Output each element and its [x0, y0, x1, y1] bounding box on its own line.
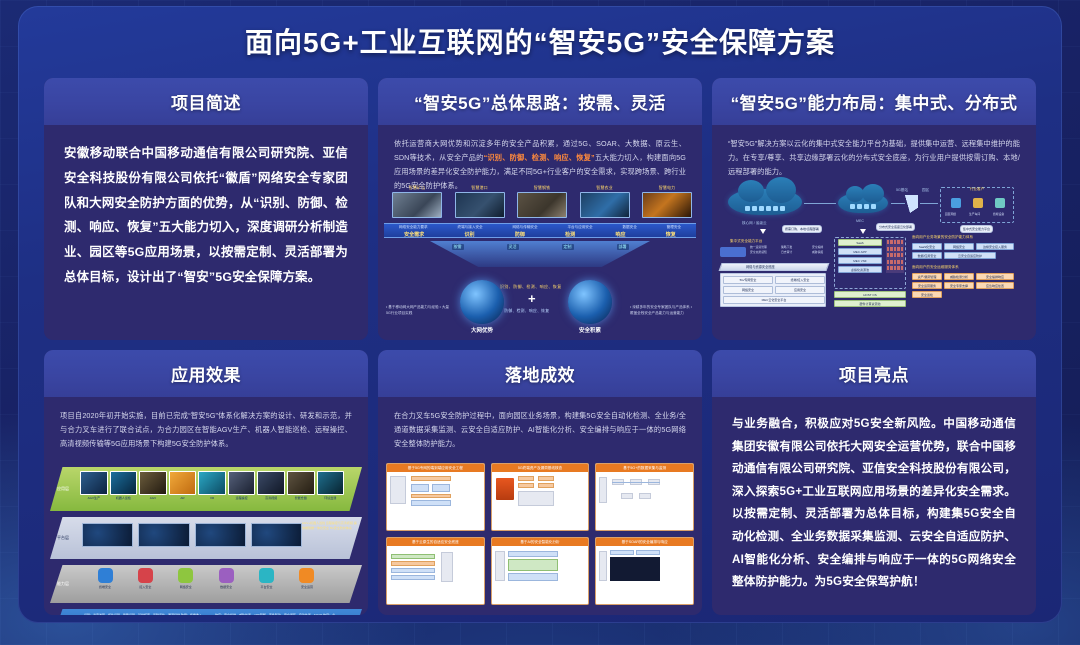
layer3-items: 终端安全 接入安全 网络安全 数据安全 平台安全 安全运营 [90, 568, 322, 589]
cloud-label-mec: MEC [856, 219, 864, 223]
center-platform-bullets: 统一运营管理 安全态势感知 策略下发 日志审计 安全编排 威胁情报 [750, 245, 840, 256]
platform-stack: 5G/专网安全 终端/接入安全 网络安全 应用安全 MEC云化安全平台 [720, 273, 826, 307]
layer1-item-thumb [169, 471, 197, 495]
scenario-thumb-image [580, 192, 630, 218]
cloud-label-core: 核心网 / 省级云 [742, 221, 767, 226]
result-card-body [387, 472, 484, 530]
capability-bar: 网络安全能力要求 终端与接入安全 网络与传输安全 平台与应用安全 数据安全 管理… [384, 223, 696, 238]
thumb-sidebar [495, 551, 505, 581]
capability-main-item: 识别 [464, 231, 474, 238]
landing-results-text: 在合力叉车5G安全防护过程中，面向园区业务场景，构建集5G安全自动化检测、全业务… [390, 407, 690, 451]
layer-tag: 应用层 [52, 486, 74, 492]
result-card-title: 基于SOAR的安全编排与响应 [596, 538, 693, 546]
panel-header-landing-results: 落地成效 [378, 350, 702, 397]
mec-stack-item: 硬件计算资源池 [834, 300, 906, 307]
right-section-title-1: 面向用户业务场景的安全防护能力体系 [912, 235, 973, 240]
panel-application-effect: 应用效果 项目自2020年初开始实施，目前已完成“智安5G”体系化解决方案的设计… [44, 350, 368, 615]
panel-project-highlights: 项目亮点 与业务融合，积极应对5G安全新风险。中国移动通信集团安徽有限公司依托大… [712, 350, 1036, 615]
layer2-screenshot [251, 523, 302, 547]
thumb-block [432, 484, 450, 492]
layer4-column-right: 响应：安全编排、威胁处置、APT阻断、事件联动、安全闭环、自动处置、SOAR 恢… [215, 613, 336, 615]
thumb-block [639, 493, 651, 499]
poster-title: 面向5G+工业互联网的“智安5G”安全保障方案 [245, 21, 835, 61]
thumb-sidebar [599, 551, 607, 581]
capability-layout-diagram: 核心网 / 省级云 MEC 5G基站 园区 行业客户 [716, 181, 1032, 338]
center-bullet: 策略下发 [781, 245, 792, 249]
link-line-core-mec [804, 203, 836, 204]
layer1-item: AGV生产 [80, 471, 108, 500]
right-ops-block: 安全专家支撑 [944, 282, 974, 289]
cloud-icon-core-network [728, 189, 802, 215]
platform-slab-title: 网络与资源安全底座 [746, 264, 775, 269]
layer2-items [82, 523, 302, 547]
thumb-block [390, 476, 406, 504]
platform-block: 网络安全 [723, 286, 773, 294]
funnel-caption: 定制 [562, 244, 574, 250]
panel-header-project-highlights: 项目亮点 [712, 350, 1036, 397]
thumb-block [538, 483, 554, 488]
layer2-screenshot [82, 523, 133, 547]
panel-project-overview: 项目简述 安徽移动联合中国移动通信有限公司研究院、亚信安全科技股份有限公司依托“… [44, 78, 368, 340]
layer4-column-left: 识别：资产发现、拓扑识别、策略识别、基线核查、风险评估、漏洞扫描 防御：终端准入… [84, 613, 205, 615]
platform-block: 终端/接入安全 [775, 276, 825, 284]
scenario-thumb: 智慧农业 [580, 185, 630, 219]
capability-sub-item: 网络安全能力要求 [399, 225, 428, 230]
poster-title-banner: 面向5G+工业互联网的“智安5G”安全保障方案 [18, 6, 1062, 75]
result-card: 5G终端资产及漏洞基线核查 [491, 463, 590, 531]
tower-label-park: 园区 [922, 188, 929, 193]
right-ops-block: 安全编排响应 [976, 273, 1014, 280]
diagram-bullets-left: • 基于移动网大网产品能力与经验 • 大量5G行业项目实践 [386, 304, 452, 316]
thumb-connector [612, 482, 660, 483]
globe-icon-network [460, 280, 504, 324]
thumb-block [636, 550, 660, 555]
thumb-block [508, 573, 558, 581]
thumb-block [391, 554, 435, 559]
layer3-item: 平台安全 [252, 568, 282, 589]
poster-frame: 面向5G+工业互联网的“智安5G”安全保障方案 项目简述 安徽移动联合中国移动通… [18, 6, 1062, 623]
thumb-canvas [610, 557, 660, 581]
diagram-layer-platform: 平台层 AGV+机器人巡检 远程操控与高清视频 提供端到端一体化安全 5G安全防… [50, 517, 362, 559]
thumb-block [411, 494, 451, 498]
panel-overall-idea: “智安5G”总体思路：按需、灵活 依托运营商大网优势和沉淀多年的安全产品积累，通… [378, 78, 702, 340]
diagram-layer-foundation: 基础层 识别：资产发现、拓扑识别、策略识别、基线核查、风险评估、漏洞扫描 防御：… [50, 609, 362, 615]
panel-body-application-effect: 项目自2020年初开始实施，目前已完成“智安5G”体系化解决方案的设计、研发和示… [44, 397, 368, 615]
layer3-item-label: 网络安全 [171, 585, 201, 589]
result-card-body [596, 546, 693, 604]
layer1-item-thumb [139, 471, 167, 495]
scenario-thumb-image [455, 192, 505, 218]
funnel-sublabel: 识别、防御、检测、响应、恢复 [500, 284, 562, 290]
callout-bubble: 按需订购、本地/远程部署 [782, 225, 822, 233]
network-icon [951, 198, 961, 208]
layer1-item-label: AR [169, 496, 197, 500]
callout-bubble: 集中式安全能力平台 [960, 225, 993, 233]
capability-sub-item: 数据安全 [622, 225, 636, 230]
layer1-item: VR [198, 471, 226, 500]
layer1-item: 机器人巡检 [110, 471, 138, 500]
panel-body-overall-idea: 依托运营商大网优势和沉淀多年的安全产品积累，通过5G、SOAR、大数据、原云生、… [378, 125, 702, 340]
result-card-body [492, 546, 589, 604]
layer3-item-label: 平台安全 [252, 585, 282, 589]
industry-customer-box: 行业客户 园区网络 生产车间 终端设备 [940, 187, 1014, 223]
scenario-thumb-image [517, 192, 567, 218]
layer2-screenshot [195, 523, 246, 547]
device-icon [995, 198, 1005, 208]
panel-body-project-highlights: 与业务融合，积极应对5G安全新风险。中国移动通信集团安徽有限公司依托大网安全运营… [712, 397, 1036, 615]
right-capability-block: 边缘安全接入服务 [976, 243, 1014, 250]
cloud-icon-mec [838, 193, 888, 213]
panel-title-project-overview: 项目简述 [171, 89, 241, 114]
thumb-block [391, 575, 435, 580]
layer3-item-label: 终端安全 [90, 585, 120, 589]
access-security-icon [138, 568, 153, 583]
panel-capability-layout: “智安5G”能力布局：集中式、分布式 “智安5G”解决方案以云化的集中式安全能力… [712, 78, 1036, 340]
platform-block: 5G/专网安全 [723, 276, 773, 284]
scenario-thumb-caption: 智慧钢铁 [517, 185, 567, 191]
scenario-thumb: 智慧电力 [642, 185, 692, 219]
thumb-block [610, 550, 634, 555]
industry-item-label: 终端设备 [993, 212, 1004, 216]
capability-main-item: 防御 [515, 231, 525, 238]
layer1-item-label: 高清视频 [257, 496, 285, 500]
mec-stack-item: MEC APP [838, 248, 882, 255]
thumb-block [621, 493, 633, 499]
right-capability-block: 网络安全 [944, 243, 974, 250]
result-card-title: 基于云原生的自适应安全底座 [387, 538, 484, 546]
layer3-item-label: 接入安全 [130, 585, 160, 589]
layer1-item-thumb [198, 471, 226, 495]
mec-stack-item: SaaS [838, 239, 882, 246]
layer3-item: 网络安全 [171, 568, 201, 589]
globe-label-network: 大网优势 [452, 326, 512, 334]
layer1-items: AGV生产 机器人巡检 AGV AR VR 远程操控 高清视频 智能仓储 环境监… [80, 471, 344, 500]
terminal-security-icon [98, 568, 113, 583]
panel-header-application-effect: 应用效果 [44, 350, 368, 397]
right-ops-block: 安全运营服务 [912, 282, 942, 289]
industry-item-label: 生产车间 [969, 212, 980, 216]
layer-tag: 能力层 [52, 581, 74, 587]
down-arrow-icon [860, 229, 866, 234]
capability-main-item: 响应 [615, 231, 625, 238]
panel-body-capability-layout: “智安5G”解决方案以云化的集中式安全能力平台为基础，提供集中运营、远程集中维护… [712, 125, 1036, 340]
thumb-block [391, 561, 435, 566]
right-section-title-2: 面向用户的安全运维服务体系 [912, 265, 959, 270]
thumb-table [518, 491, 554, 506]
diagram-layer-application: 应用层 AGV生产 机器人巡检 AGV AR VR 远程操控 高清视频 智能仓储… [50, 467, 362, 511]
platform-security-icon [259, 568, 274, 583]
capability-sub-item: 平台与应用安全 [567, 225, 592, 230]
data-security-icon [219, 568, 234, 583]
platform-block: 应用安全 [775, 286, 825, 294]
center-bullet: 统一运营管理 [750, 245, 767, 249]
capability-sub-item: 网络与传输安全 [512, 225, 537, 230]
globe-label-security: 安全积累 [560, 326, 620, 334]
cloud-node-dots [728, 206, 802, 211]
layer1-item: 环境监测 [317, 471, 345, 500]
thumb-block [411, 500, 451, 506]
layer1-item-thumb [317, 471, 345, 495]
overall-idea-diagram: 智慧矿山 智慧港口 智慧钢铁 智慧农业 [382, 183, 698, 336]
right-ops-block: 安全巡检 [912, 291, 942, 298]
result-card-body [492, 472, 589, 530]
panel-header-overall-idea: “智安5G”总体思路：按需、灵活 [378, 78, 702, 125]
platform-badge-icon [720, 247, 746, 257]
layer3-item-label: 安全运营 [292, 585, 322, 589]
forklift-icon [496, 478, 514, 500]
industry-item-label: 园区网络 [945, 212, 956, 216]
thumb-block [518, 483, 534, 488]
funnel-caption: 灵活 [507, 244, 519, 250]
layer1-item-thumb [257, 471, 285, 495]
funnel-caption: 部署 [617, 244, 629, 250]
thumb-block [518, 476, 534, 481]
right-capability-block: 数据/应用安全 [912, 252, 942, 259]
panel-grid: 项目简述 安徽移动联合中国移动通信有限公司研究院、亚信安全科技股份有限公司依托“… [44, 78, 1036, 615]
center-platform-title: 集中式安全能力平台 [730, 239, 762, 244]
right-ops-block: 应急响应处置 [976, 282, 1014, 289]
result-card-title: 5G终端资产及漏洞基线核查 [492, 464, 589, 472]
result-card-body [596, 472, 693, 530]
link-line-tower-industry [920, 203, 938, 204]
layer1-item-label: 环境监测 [317, 496, 345, 500]
application-effect-text: 项目自2020年初开始实施，目前已完成“智安5G”体系化解决方案的设计、研发和示… [56, 407, 356, 451]
capability-layout-text: “智安5G”解决方案以云化的集中式安全能力平台为基础，提供集中运营、远程集中维护… [724, 135, 1024, 179]
center-bullet: 威胁情报 [812, 250, 823, 254]
layer1-item: 智能仓储 [287, 471, 315, 500]
mec-stack-item: HOST OS [834, 291, 906, 298]
thumb-block [508, 551, 558, 557]
capability-main-item: 检测 [565, 231, 575, 238]
scenario-thumb-caption: 智慧电力 [642, 185, 692, 191]
thumb-sidebar [441, 552, 453, 582]
callout-bubble: 分布式安全底座云化部署 [876, 223, 915, 231]
result-card-title: 基于5G+的数据采集与监测 [596, 464, 693, 472]
result-card: 基于5G专网的端到端应用安全工程 [386, 463, 485, 531]
result-card: 基于云原生的自适应安全底座 [386, 537, 485, 605]
scenario-thumb-caption: 智慧农业 [580, 185, 630, 191]
scenario-thumb-image [392, 192, 442, 218]
layer1-item: 高清视频 [257, 471, 285, 500]
security-operation-icon [299, 568, 314, 583]
right-capability-block: SaaS化安全 [912, 243, 942, 250]
capability-bar-mainrow: 安全需求 识别 防御 检测 响应 恢复 [384, 230, 696, 238]
panel-title-project-highlights: 项目亮点 [839, 361, 909, 386]
layer1-item: 远程操控 [228, 471, 256, 500]
right-ops-block: 资产/漏洞管理 [912, 273, 942, 280]
layer1-item: AGV [139, 471, 167, 500]
layer3-item: 终端安全 [90, 568, 120, 589]
capability-main-item: 安全需求 [404, 231, 424, 238]
application-effect-diagram: 应用层 AGV生产 机器人巡检 AGV AR VR 远程操控 高清视频 智能仓储… [50, 467, 362, 609]
thumb-block [411, 476, 451, 481]
thumb-block [391, 568, 435, 573]
mec-stack-item: 虚拟化资源池 [838, 266, 882, 273]
layer-tag: 平台层 [52, 535, 74, 541]
scenario-thumb-image [642, 192, 692, 218]
capability-sub-item: 终端与接入安全 [457, 225, 482, 230]
panel-title-overall-idea: “智安5G”总体思路：按需、灵活 [414, 89, 666, 114]
layer1-item-label: 机器人巡检 [110, 496, 138, 500]
plus-icon: + [528, 291, 536, 306]
thumb-block [411, 484, 429, 492]
result-card: 基于SOAR的安全编排与响应 [595, 537, 694, 605]
scenario-thumb-caption: 智慧矿山 [392, 185, 442, 191]
project-overview-text: 安徽移动联合中国移动通信有限公司研究院、亚信安全科技股份有限公司依托“徽盾”网络… [56, 135, 356, 290]
capability-sub-item: 管理安全 [667, 225, 681, 230]
panel-header-capability-layout: “智安5G”能力布局：集中式、分布式 [712, 78, 1036, 125]
center-bullet: 安全编排 [812, 245, 823, 249]
network-security-icon [178, 568, 193, 583]
funnel-captions: 按需 灵活 定制 部署 [430, 241, 650, 250]
panel-title-capability-layout: “智安5G”能力布局：集中式、分布式 [731, 89, 1018, 114]
scenario-thumbnail-row: 智慧矿山 智慧港口 智慧钢铁 智慧农业 [392, 185, 692, 219]
thumb-block [599, 477, 607, 503]
overall-idea-text-highlight: “识别、防御、检测、响应、恢复” [484, 153, 595, 162]
scenario-thumb: 智慧钢铁 [517, 185, 567, 219]
thumb-block [508, 559, 558, 571]
panel-body-project-overview: 安徽移动联合中国移动通信有限公司研究院、亚信安全科技股份有限公司依托“徽盾”网络… [44, 125, 368, 340]
layer1-item-thumb [110, 471, 138, 495]
globe-icon-security [568, 280, 612, 324]
thumb-block [538, 476, 554, 481]
layer1-item-label: 智能仓储 [287, 496, 315, 500]
panel-title-landing-results: 落地成效 [505, 361, 575, 386]
center-bullet: 安全态势感知 [750, 250, 767, 254]
scenario-thumb: 智慧矿山 [392, 185, 442, 219]
factory-icon [973, 198, 983, 208]
layer1-item-label: AGV [139, 496, 167, 500]
result-card: 基于AI的安全智能化分析 [491, 537, 590, 605]
layer1-item: AR [169, 471, 197, 500]
layer1-item-thumb [80, 471, 108, 495]
cloud-node-dots [838, 204, 888, 209]
resource-grid-icon [886, 239, 904, 273]
scenario-thumb-caption: 智慧港口 [455, 185, 505, 191]
center-bullet: 日志审计 [781, 250, 792, 254]
panel-body-landing-results: 在合力叉车5G安全防护过程中，面向园区业务场景，构建集5G安全自动化检测、全业务… [378, 397, 702, 615]
panel-title-application-effect: 应用效果 [171, 361, 241, 386]
layer1-item-label: VR [198, 496, 226, 500]
layer3-item: 数据安全 [211, 568, 241, 589]
layer1-item-label: AGV生产 [80, 496, 108, 500]
funnel-shape: 按需 灵活 定制 部署 [430, 241, 650, 267]
diagram-layer-capability: 能力层 终端安全 接入安全 网络安全 数据安全 平台安全 安全运营 [50, 565, 362, 603]
layer1-item-thumb [287, 471, 315, 495]
industry-box-title: 行业客户 [941, 187, 1013, 192]
capability-main-item: 恢复 [666, 231, 676, 238]
platform-block: MEC云化安全平台 [723, 296, 825, 304]
project-highlights-text: 与业务融合，积极应对5G安全新风险。中国移动通信集团安徽有限公司依托大网安全运营… [724, 407, 1024, 594]
panel-header-project-overview: 项目简述 [44, 78, 368, 125]
layer3-item: 安全运营 [292, 568, 322, 589]
layer1-item-label: 远程操控 [228, 496, 256, 500]
result-card-title: 基于5G专网的端到端应用安全工程 [387, 464, 484, 472]
layer3-item: 接入安全 [130, 568, 160, 589]
mec-stack-item: MEC VNF [838, 257, 882, 264]
landing-results-cards: 基于5G专网的端到端应用安全工程 5G终端资产及漏洞基线核查 [386, 463, 694, 605]
panel-landing-results: 落地成效 在合力叉车5G安全防护过程中，面向园区业务场景，构建集5G安全自动化检… [378, 350, 702, 615]
result-card-body [387, 546, 484, 604]
diagram-bullets-right: • 深耕多年的安全专家团队与产品体系 • 覆盖全栈安全产品能力与运营能力 [630, 304, 696, 316]
layer3-item-label: 数据安全 [211, 585, 241, 589]
down-arrow-icon [760, 229, 766, 234]
funnel-caption: 按需 [452, 244, 464, 250]
right-capability-block: 云安全自适应防护 [944, 252, 996, 259]
layer4-columns: 识别：资产发现、拓扑识别、策略识别、基线核查、风险评估、漏洞扫描 防御：终端准入… [84, 613, 336, 615]
result-card: 基于5G+的数据采集与监测 [595, 463, 694, 531]
right-ops-block: 威胁检测分析 [944, 273, 974, 280]
layer2-note: AGV+机器人巡检 远程操控与高清视频 提供端到端一体化安全 5G安全防护体系 [302, 521, 358, 531]
scenario-thumb: 智慧港口 [455, 185, 505, 219]
tower-label-5g: 5G基站 [896, 188, 908, 193]
layer2-screenshot [138, 523, 189, 547]
base-station-icon [902, 195, 918, 213]
layer1-item-thumb [228, 471, 256, 495]
result-card-title: 基于AI的安全智能化分析 [492, 538, 589, 546]
